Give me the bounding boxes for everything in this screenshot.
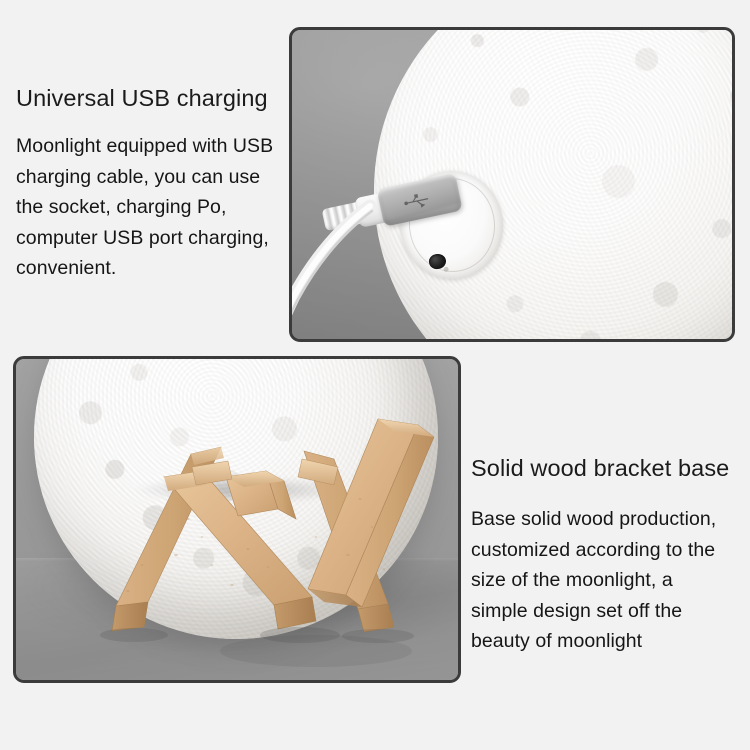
photo-inner: [16, 359, 458, 680]
usb-charging-heading: Universal USB charging: [16, 84, 296, 112]
wooden-x-bracket: [16, 359, 458, 680]
body-line: Base solid wood production,: [471, 504, 750, 535]
body-line: charging cable, you can use: [16, 162, 296, 193]
wood-bracket-heading: Solid wood bracket base: [471, 454, 750, 482]
usb-charging-photo: [289, 27, 735, 342]
wood-bracket-text-block: Solid wood bracket base Base solid wood …: [471, 454, 750, 657]
body-line: convenient.: [16, 253, 296, 284]
body-line: customized according to the: [471, 535, 750, 566]
wood-bracket-body: Base solid wood production, customized a…: [471, 504, 750, 657]
body-line: Moonlight equipped with USB: [16, 131, 296, 162]
body-line: simple design set off the: [471, 596, 750, 627]
usb-cable: [292, 200, 414, 330]
body-line: beauty of moonlight: [471, 626, 750, 657]
photo-inner: [292, 30, 732, 339]
product-feature-page: Universal USB charging Moonlight equippe…: [0, 0, 750, 750]
usb-charging-text-block: Universal USB charging Moonlight equippe…: [16, 84, 296, 284]
wood-bracket-photo: [13, 356, 461, 683]
body-line: size of the moonlight, a: [471, 565, 750, 596]
plate-screw-dot: [443, 267, 448, 272]
body-line: the socket, charging Po,: [16, 192, 296, 223]
usb-charging-body: Moonlight equipped with USB charging cab…: [16, 131, 296, 284]
body-line: computer USB port charging,: [16, 223, 296, 254]
